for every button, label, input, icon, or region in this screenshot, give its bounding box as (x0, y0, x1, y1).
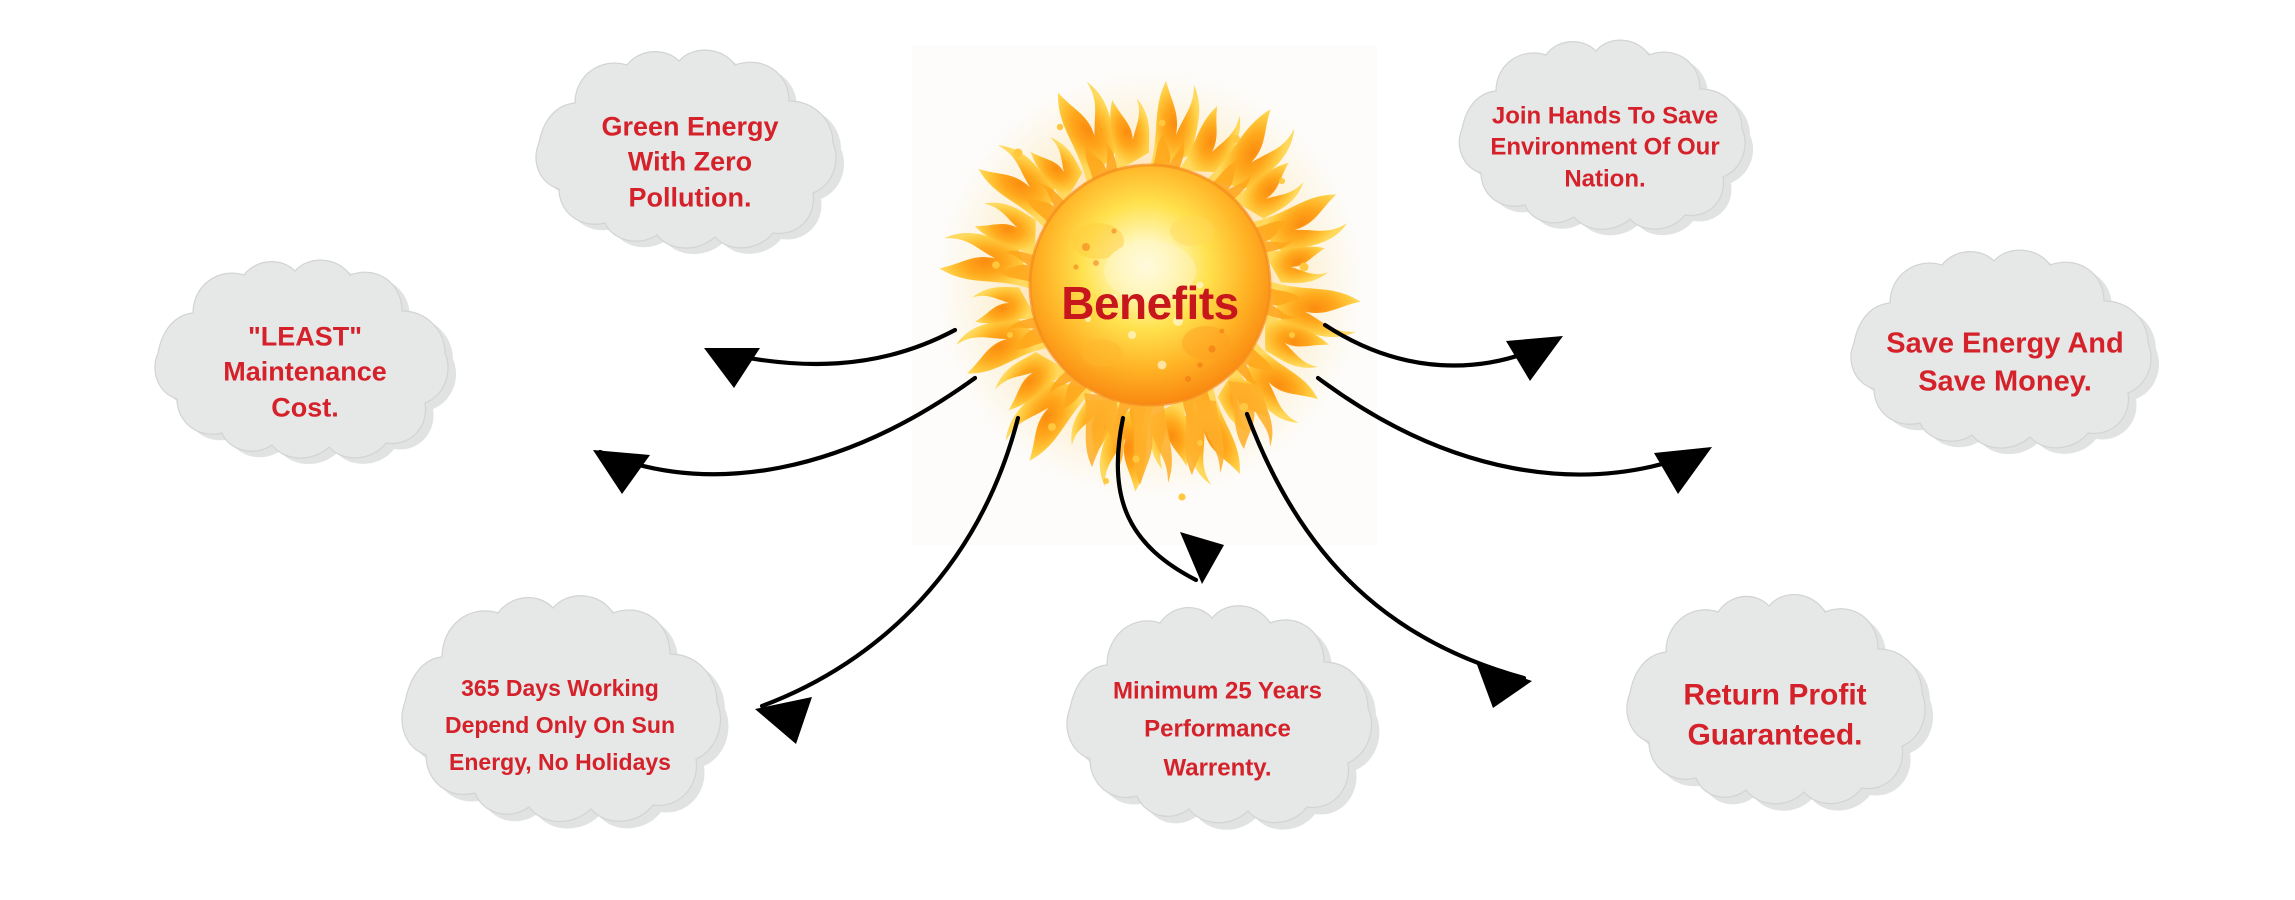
node-365-days[interactable]: 365 Days Working Depend Only On Sun Ener… (360, 590, 760, 860)
node-label: Return Profit Guaranteed. (1590, 675, 1960, 754)
node-warranty[interactable]: Minimum 25 Years Performance Warrenty. (1030, 600, 1405, 860)
node-label: "LEAST" Maintenance Cost. (115, 319, 495, 426)
node-return-profit[interactable]: Return Profit Guaranteed. (1590, 590, 1960, 840)
node-green-energy[interactable]: Green Energy With Zero Pollution. (495, 45, 885, 280)
node-label: 365 Days Working Depend Only On Sun Ener… (360, 670, 760, 780)
node-label: Save Energy And Save Money. (1810, 324, 2200, 401)
node-label: Minimum 25 Years Performance Warrenty. (1030, 672, 1405, 787)
infographic-canvas: Benefits (0, 0, 2295, 900)
sun-icon (900, 35, 1400, 555)
node-save-energy-money[interactable]: Save Energy And Save Money. (1810, 245, 2200, 480)
node-label: Green Energy With Zero Pollution. (495, 109, 885, 216)
node-label: Join Hands To Save Environment Of Our Na… (1420, 100, 1790, 195)
node-least-maintenance[interactable]: "LEAST" Maintenance Cost. (115, 255, 495, 490)
center-node-sun: Benefits (900, 35, 1400, 555)
node-join-hands[interactable]: Join Hands To Save Environment Of Our Na… (1420, 35, 1790, 260)
